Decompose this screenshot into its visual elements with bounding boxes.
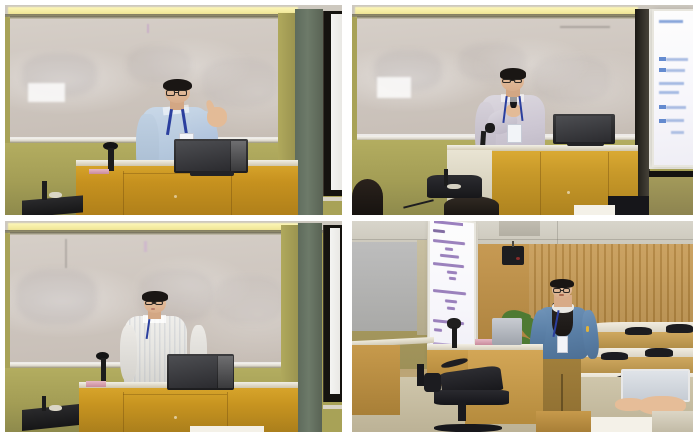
slide-subheading — [433, 229, 445, 233]
projector-slide — [654, 11, 693, 164]
whiteboard-paper — [28, 83, 66, 102]
seminar-chair — [625, 327, 652, 335]
desk-object — [89, 169, 109, 174]
glasses-icon — [145, 301, 153, 306]
slide-title — [434, 221, 463, 227]
jacket-logo — [586, 326, 589, 332]
slide-line — [445, 248, 453, 252]
podium-monitor — [167, 354, 234, 390]
whiteboard-mark — [144, 241, 147, 253]
room-pillar — [298, 223, 322, 432]
podium-monitor — [492, 318, 523, 345]
slide-line — [659, 91, 679, 94]
seminar-room-scene — [352, 221, 693, 432]
podium-seam — [123, 171, 124, 215]
wall-behind-screen — [649, 177, 693, 215]
glasses-icon — [155, 301, 163, 306]
slide-formula — [447, 271, 457, 275]
cable — [42, 181, 47, 200]
audience-desk — [652, 411, 693, 432]
presenter-hair — [550, 279, 573, 288]
podium-seam — [123, 392, 124, 432]
whiteboard-smudge — [16, 269, 98, 324]
slide-line — [434, 262, 465, 268]
whiteboard-smudge — [127, 46, 191, 83]
slide-bullet-text — [666, 106, 686, 109]
presenter-smile — [559, 294, 564, 296]
slide-line — [434, 239, 466, 245]
glasses-icon — [563, 288, 571, 292]
audience-desk-front — [536, 411, 591, 432]
presenter-left-arm — [120, 325, 138, 382]
glasses-bridge — [561, 290, 563, 291]
whiteboard-top-rail — [10, 16, 302, 19]
slide-bullet-marker — [659, 57, 666, 61]
podium-monitor — [553, 114, 614, 143]
ceiling-speaker — [502, 246, 524, 265]
glasses-icon — [502, 79, 511, 84]
podium-seam — [540, 152, 541, 215]
desk-object — [86, 381, 106, 386]
slide-bullet-marker — [659, 68, 666, 72]
slide-line — [671, 131, 684, 134]
glasses-bridge — [153, 302, 156, 303]
whiteboard-top-rail — [357, 16, 638, 19]
name-badge — [507, 124, 522, 143]
slide-bullet-marker — [659, 119, 666, 123]
glasses-bridge — [175, 92, 178, 93]
slide-bullet-text — [666, 69, 685, 72]
podium-seam — [231, 171, 232, 215]
slide-formula — [445, 299, 457, 303]
monitor-screen — [176, 141, 229, 171]
cable — [417, 364, 424, 385]
whiteboard-smudge — [214, 275, 284, 325]
projector-screen-bottom-bar — [323, 197, 342, 201]
podium-screw — [174, 195, 177, 198]
slide-bullet-text — [666, 58, 688, 61]
microphone-stem — [101, 358, 106, 383]
monitor-stand — [567, 142, 605, 146]
cable-connector — [447, 184, 461, 189]
collage-panel-top-left[interactable] — [0, 0, 347, 216]
whiteboard-mark — [147, 24, 149, 33]
seminar-chair — [601, 352, 628, 360]
office-chair-seat — [434, 390, 509, 405]
speaker-indicator — [516, 257, 520, 260]
photo-image-4[interactable] — [352, 221, 693, 432]
slide-bullet-text — [666, 119, 683, 122]
projector-screen-bottom-bar — [323, 405, 342, 409]
glasses-icon — [166, 90, 175, 95]
lecture-room-scene-2 — [352, 5, 693, 215]
speaker-mount — [512, 241, 514, 247]
photo-collage — [0, 0, 700, 438]
seminar-chair — [666, 324, 693, 332]
photo-image-3[interactable] — [5, 221, 342, 432]
slide-line — [659, 82, 684, 85]
collage-panel-top-right[interactable] — [347, 0, 700, 216]
ceiling-vent — [499, 221, 540, 236]
monitor-screen — [556, 116, 611, 141]
slide-bullet-marker — [659, 105, 666, 109]
podium-screw — [567, 191, 570, 194]
slide-line — [434, 289, 467, 295]
desk-paper — [190, 426, 264, 432]
lecture-room-scene-1 — [5, 5, 342, 215]
cable — [42, 396, 46, 411]
whiteboard-mark — [560, 26, 611, 28]
monitor-stand — [190, 171, 234, 176]
glasses-icon — [178, 90, 187, 95]
podium — [79, 386, 298, 432]
glasses-icon — [553, 288, 561, 292]
name-badge — [557, 336, 569, 353]
audience-head — [444, 196, 499, 215]
audience-head — [352, 179, 383, 215]
cable-connector — [49, 192, 62, 198]
desk-paper — [574, 205, 615, 216]
cable — [444, 169, 448, 186]
whiteboard — [352, 242, 420, 331]
presenter-hair — [500, 68, 527, 80]
room-pillar — [295, 9, 324, 215]
microphone-stem — [452, 327, 457, 348]
office-chair-base — [434, 424, 502, 432]
photo-image-2[interactable] — [352, 5, 693, 215]
lecture-room-scene-3 — [5, 221, 342, 432]
slide-line — [435, 328, 442, 332]
collage-panel-bottom-left[interactable] — [0, 216, 347, 438]
projector-screen-surface — [330, 228, 340, 394]
podium-monitor — [174, 139, 248, 173]
collage-panel-bottom-right[interactable] — [347, 216, 700, 438]
office-chair-column — [458, 402, 467, 421]
whiteboard-seam — [65, 239, 67, 268]
slide-line — [440, 254, 460, 259]
whiteboard-top-rail — [10, 232, 302, 235]
podium-seam — [123, 394, 227, 395]
glasses-icon — [514, 79, 523, 84]
slide-heading — [659, 20, 683, 23]
microphone-stem — [108, 148, 113, 171]
cable-tray — [424, 373, 441, 392]
slide-formula — [447, 307, 455, 311]
monitor-bezel-side — [218, 356, 233, 388]
seminar-chair — [645, 348, 672, 357]
audience-finger — [615, 398, 646, 411]
monitor-screen — [169, 356, 216, 388]
slide-formula — [449, 277, 456, 281]
front-desk-front — [352, 345, 400, 415]
monitor-bezel-side — [231, 141, 246, 171]
ceiling-grid-line — [352, 239, 693, 240]
whiteboard-paper — [377, 77, 411, 99]
cable-connector — [49, 405, 62, 411]
projector-screen-surface — [331, 14, 342, 189]
glasses-bridge — [511, 80, 514, 81]
photo-image-1[interactable] — [5, 5, 342, 215]
